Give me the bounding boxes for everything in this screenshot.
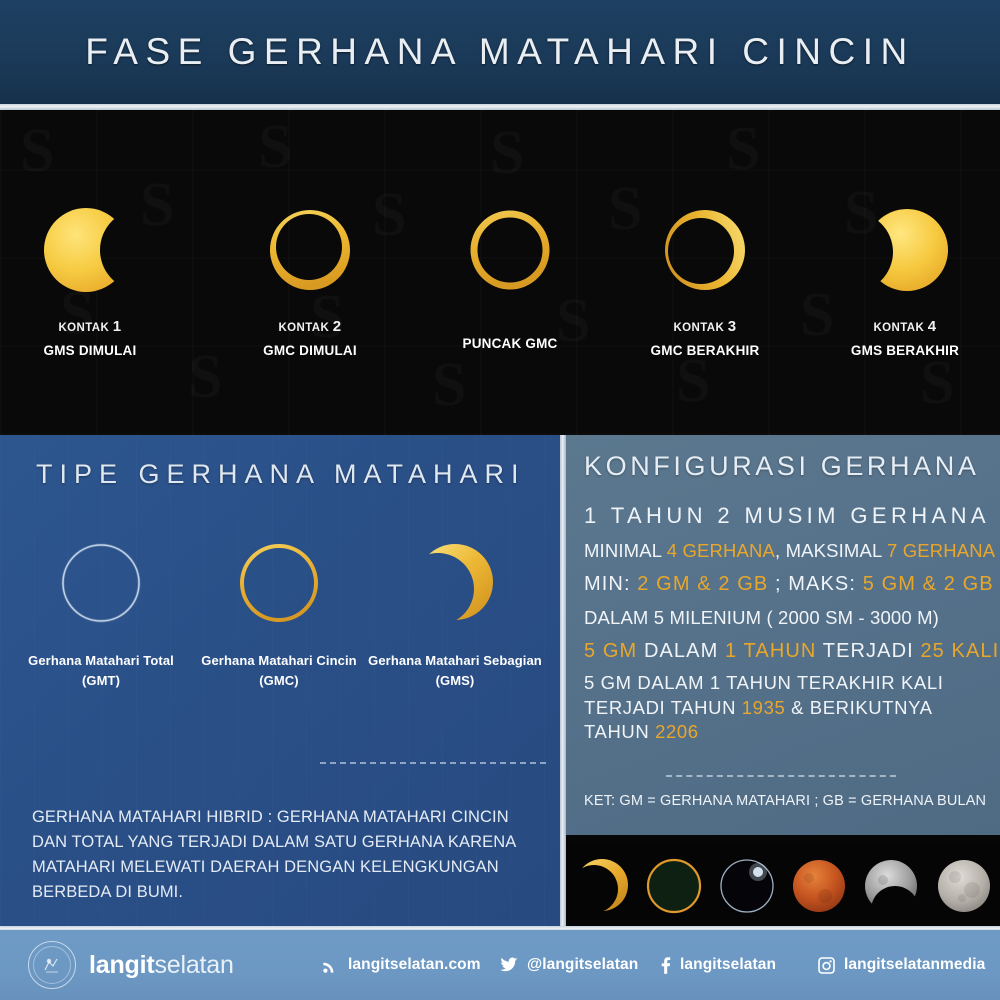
eclipse-type-name: Gerhana Matahari Total bbox=[28, 653, 174, 668]
watermark-letter: S bbox=[188, 342, 222, 413]
phase-figure-ring-even bbox=[464, 196, 556, 304]
phase-item-4: KONTAK 3 GMC BERAKHIR bbox=[615, 110, 795, 435]
phase-contact-number: 3 bbox=[728, 318, 737, 335]
phase-item-2: KONTAK 2 GMC DIMULAI bbox=[220, 110, 400, 435]
config-highlight: 5 GM bbox=[584, 640, 637, 662]
phase-contact-number: 4 bbox=[928, 318, 937, 335]
link-label: @langitselatan bbox=[527, 956, 638, 974]
link-label: langitselatan.com bbox=[348, 956, 481, 974]
config-line-millennium: DALAM 5 MILENIUM ( 2000 SM - 3000 M) bbox=[584, 605, 994, 631]
phase-figure-sun-bite-left bbox=[38, 196, 142, 304]
eclipse-type-gmt: Gerhana Matahari Total (GMT) bbox=[8, 527, 194, 691]
phase-figure-sun-bite-left-small bbox=[855, 196, 955, 304]
eclipse-phases-section: S S S S S S S S S S S S S S S S bbox=[0, 110, 1000, 435]
phase-desc: GMC DIMULAI bbox=[263, 341, 357, 360]
config-line-5gm-frequency: 5 GM DALAM 1 TAHUN TERJADI 25 KALI bbox=[584, 637, 994, 665]
phase-item-5: KONTAK 4 GMS BERAKHIR bbox=[815, 110, 995, 435]
eclipse-configuration-panel: KONFIGURASI GERHANA 1 TAHUN 2 MUSIM GERH… bbox=[566, 435, 1000, 835]
eclipse-type-label: Gerhana Matahari Sebagian (GMS) bbox=[368, 651, 542, 691]
config-line-seasons: 1 TAHUN 2 MUSIM GERHANA bbox=[584, 503, 994, 529]
config-line-min-max-types: MIN: 2 GM & 2 GB ; MAKS: 5 GM & 2 GB bbox=[584, 570, 994, 598]
phase-label-2: KONTAK 2 GMC DIMULAI bbox=[263, 316, 357, 360]
phase-item-1: KONTAK 1 GMS DIMULAI bbox=[0, 110, 180, 435]
eclipse-type-label: Gerhana Matahari Total (GMT) bbox=[28, 651, 174, 691]
header-banner: FASE GERHANA MATAHARI CINCIN bbox=[0, 0, 1000, 104]
phase-label-5: KONTAK 4 GMS BERAKHIR bbox=[851, 316, 959, 360]
eclipse-types-title: TIPE GERHANA MATAHARI bbox=[36, 459, 526, 490]
eclipse-type-name: Gerhana Matahari Cincin bbox=[201, 653, 356, 668]
phase-contact-number: 1 bbox=[113, 318, 122, 335]
config-text: DALAM bbox=[637, 640, 725, 662]
total-solar-eclipse-photo bbox=[717, 856, 777, 916]
phase-desc: GMS BERAKHIR bbox=[851, 341, 959, 360]
hybrid-eclipse-description: GERHANA MATAHARI HIBRID : GERHANA MATAHA… bbox=[32, 805, 538, 905]
link-twitter[interactable]: @langitselatan bbox=[500, 956, 638, 974]
brand-text: langitselatan bbox=[89, 951, 234, 980]
phase-contact-text: KONTAK bbox=[873, 322, 924, 334]
eclipse-photo-strip bbox=[566, 841, 1000, 930]
phase-desc: GMC BERAKHIR bbox=[651, 341, 760, 360]
page-title: FASE GERHANA MATAHARI CINCIN bbox=[85, 31, 915, 73]
footer-bar: langitselatan langitselatan.com @langits… bbox=[0, 930, 1000, 1000]
phase-contact-text: KONTAK bbox=[278, 322, 329, 334]
right-panel-dashed-divider bbox=[666, 775, 896, 777]
phase-desc: GMS DIMULAI bbox=[44, 341, 137, 360]
link-facebook[interactable]: langitselatan bbox=[660, 956, 776, 974]
phase-label-1: KONTAK 1 GMS DIMULAI bbox=[44, 316, 137, 360]
full-moon-photo bbox=[934, 856, 994, 916]
total-lunar-eclipse-blood-moon-photo bbox=[789, 856, 849, 916]
twitter-icon bbox=[500, 957, 518, 973]
link-instagram[interactable]: langitselatanmedia bbox=[818, 956, 985, 974]
partial-lunar-eclipse-photo bbox=[861, 856, 921, 916]
phase-contact-number: 2 bbox=[333, 318, 342, 335]
phase-item-3: PUNCAK GMC bbox=[420, 110, 600, 435]
eclipse-type-abbr: (GMT) bbox=[82, 673, 120, 688]
config-line-min-max-eclipses: MINIMAL 4 GERHANA, MAKSIMAL 7 GERHANA bbox=[584, 538, 994, 564]
infographic-root: FASE GERHANA MATAHARI CINCIN S S S S S S… bbox=[0, 0, 1000, 1000]
config-highlight-year: 1935 bbox=[742, 697, 786, 718]
eclipse-type-label: Gerhana Matahari Cincin (GMC) bbox=[201, 651, 356, 691]
config-highlight: 1 TAHUN bbox=[725, 640, 816, 662]
config-line-last-next-year: 5 GM DALAM 1 TAHUN TERAKHIR KALI TERJADI… bbox=[584, 671, 994, 744]
eclipse-type-abbr: (GMS) bbox=[436, 673, 475, 688]
partial-solar-eclipse-photo bbox=[572, 856, 632, 916]
brand-light: selatan bbox=[154, 951, 233, 979]
config-highlight-year: 2206 bbox=[655, 721, 699, 742]
phase-figure-ring-thick-bottom bbox=[262, 196, 358, 304]
config-text: MIN: bbox=[584, 573, 637, 595]
config-text: , MAKSIMAL bbox=[775, 540, 887, 561]
corona-circle-icon bbox=[55, 527, 147, 639]
config-highlight: 4 GERHANA bbox=[667, 540, 775, 561]
phase-contact-text: KONTAK bbox=[58, 322, 109, 334]
link-label: langitselatan bbox=[680, 956, 776, 974]
crescent-icon bbox=[409, 527, 501, 639]
instagram-icon bbox=[818, 957, 835, 974]
phase-desc: PUNCAK GMC bbox=[463, 334, 558, 353]
config-highlight: 2 GM & 2 GB bbox=[637, 573, 768, 595]
config-highlight: 5 GM & 2 GB bbox=[863, 573, 994, 595]
brand-logo[interactable]: langitselatan bbox=[28, 941, 234, 989]
brand-bold: langit bbox=[89, 951, 154, 979]
gold-ring-icon bbox=[233, 527, 325, 639]
config-highlight: 7 GERHANA bbox=[887, 540, 995, 561]
config-text: MINIMAL bbox=[584, 540, 667, 561]
phase-contact-text: KONTAK bbox=[673, 322, 724, 334]
facebook-icon bbox=[660, 957, 671, 974]
annular-solar-eclipse-photo bbox=[644, 856, 704, 916]
eclipse-types-panel: TIPE GERHANA MATAHARI Gerhana Matahari T… bbox=[0, 435, 560, 930]
langitselatan-seal-icon bbox=[28, 941, 76, 989]
phase-label-3: PUNCAK GMC bbox=[463, 330, 558, 353]
config-text: TERJADI bbox=[816, 640, 920, 662]
phase-figure-ring-thick-right bbox=[657, 196, 753, 304]
legend-note: KET: GM = GERHANA MATAHARI ; GB = GERHAN… bbox=[584, 793, 986, 809]
configuration-lines: 1 TAHUN 2 MUSIM GERHANA MINIMAL 4 GERHAN… bbox=[584, 503, 994, 751]
configuration-title: KONFIGURASI GERHANA bbox=[584, 451, 979, 482]
eclipse-type-gmc: Gerhana Matahari Cincin (GMC) bbox=[186, 527, 372, 691]
config-highlight: 25 KALI bbox=[920, 640, 999, 662]
eclipse-type-name: Gerhana Matahari Sebagian bbox=[368, 653, 542, 668]
left-panel-dashed-divider bbox=[320, 762, 546, 764]
link-label: langitselatanmedia bbox=[844, 956, 985, 974]
config-text: ; MAKS: bbox=[768, 573, 862, 595]
eclipse-type-gms: Gerhana Matahari Sebagian (GMS) bbox=[362, 527, 548, 691]
rss-icon bbox=[322, 957, 339, 974]
link-website[interactable]: langitselatan.com bbox=[322, 956, 481, 974]
eclipse-type-abbr: (GMC) bbox=[259, 673, 299, 688]
phase-label-4: KONTAK 3 GMC BERAKHIR bbox=[651, 316, 760, 360]
